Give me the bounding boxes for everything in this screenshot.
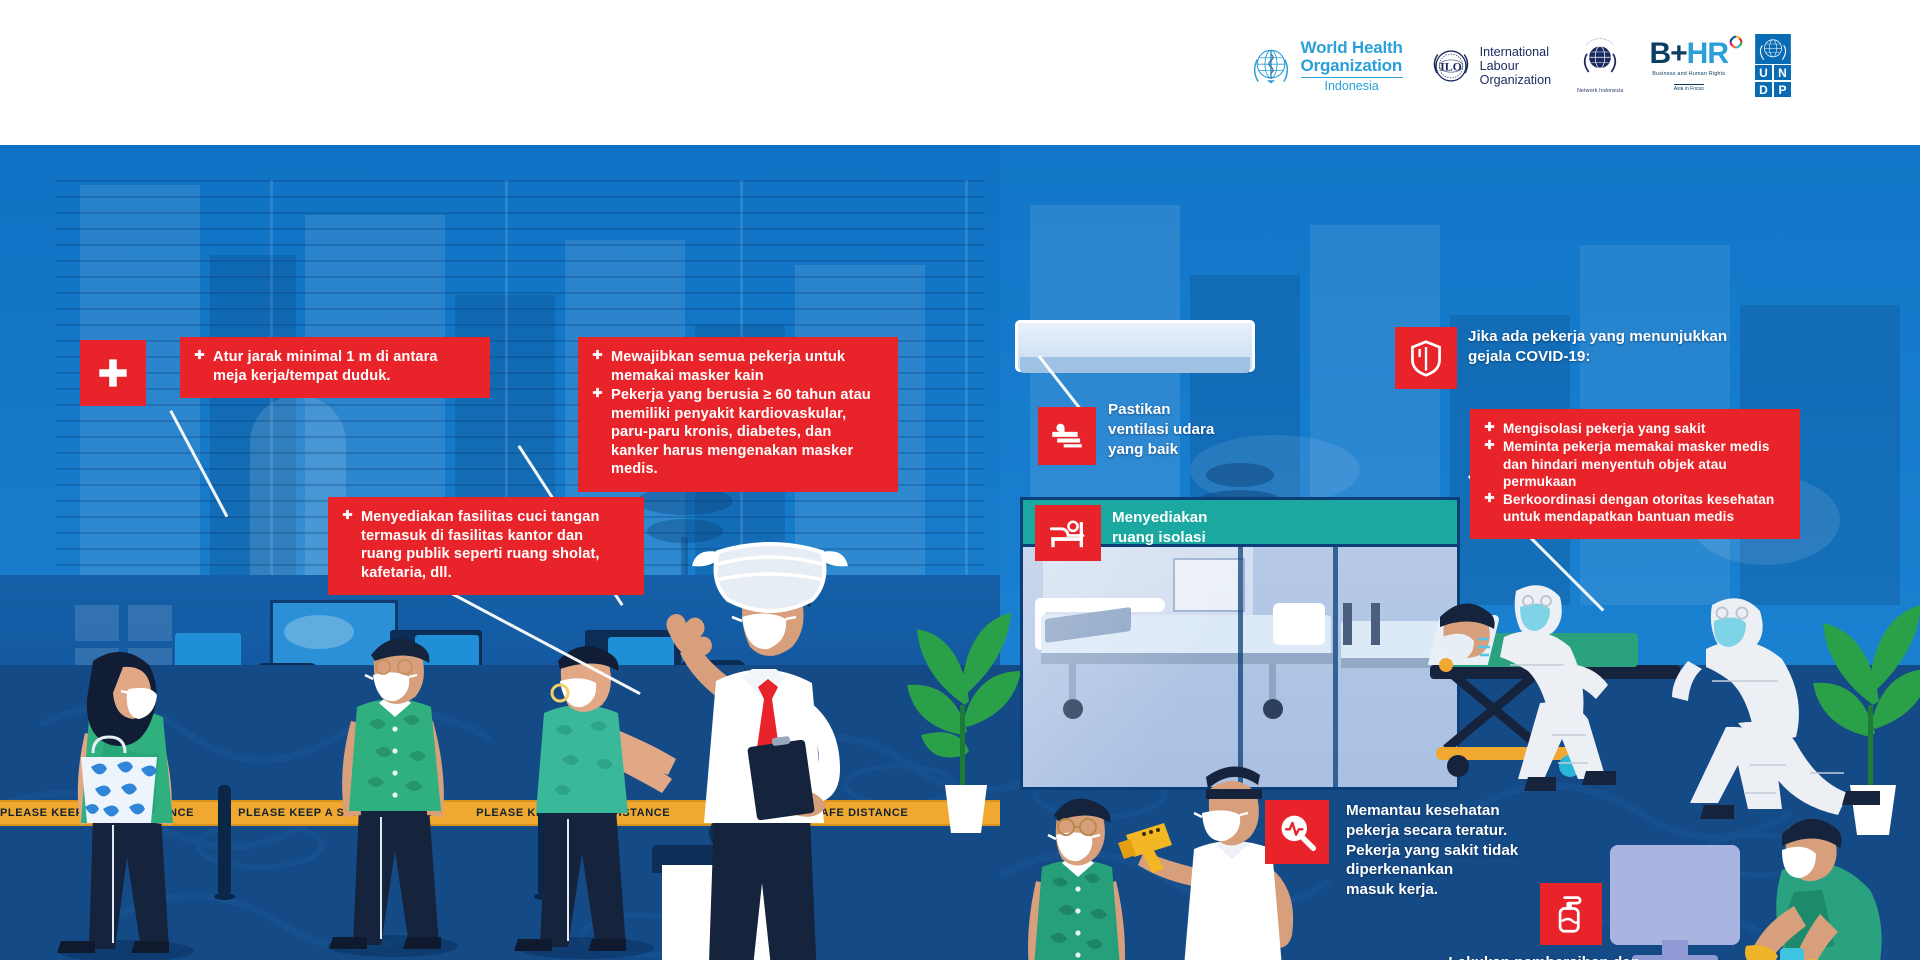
callout-handwash: Menyediakan fasilitas cuci tangan termas…	[328, 497, 644, 595]
person-manager	[660, 565, 920, 960]
bhr-b: B	[1649, 37, 1670, 70]
callout-masks: Mewajibkan semua pekerja untuk memakai m…	[578, 337, 898, 492]
callout-bullet: Mengisolasi pekerja yang sakit	[1484, 420, 1784, 437]
callout-text: Pekerja yang berusia ≥ 60 tahun atau mem…	[611, 387, 871, 477]
who-line2: Organization	[1301, 57, 1403, 75]
callout-disinfection-text: Lakukan pembersihan dan disinfeksi secar…	[1330, 953, 1640, 960]
callout-bullet: Meminta pekerja memakai masker medis dan…	[1484, 438, 1784, 490]
hospital-bed-icon-box	[1035, 505, 1101, 561]
who-line1: World Health	[1301, 39, 1403, 57]
sanitizer-bottle-icon-box	[1540, 883, 1602, 945]
infographic-root: World Health Organization Indonesia ILO …	[0, 0, 1920, 960]
sanitizer-bottle-icon	[1555, 894, 1587, 934]
bhr-plus: +	[1670, 37, 1687, 70]
undp-letter-p: P	[1773, 81, 1792, 98]
callout-text: Mewajibkan semua pekerja untuk memakai m…	[611, 349, 845, 384]
callout-bullet: Berkoordinasi dengan otoritas kesehatan …	[1484, 491, 1784, 526]
un-global-compact-logo: Network Indonesia	[1577, 39, 1623, 94]
logo-bar: World Health Organization Indonesia ILO …	[1248, 34, 1792, 98]
person-employee-hijab	[45, 645, 235, 955]
bhr-asia-logo: B+HR Business a	[1649, 37, 1728, 95]
wall-panel	[75, 605, 119, 641]
ilo-line2: Labour	[1480, 59, 1551, 73]
wall-panel	[128, 605, 172, 641]
header-bar: World Health Organization Indonesia ILO …	[0, 0, 1920, 145]
who-emblem-icon	[1248, 43, 1294, 89]
callout-isolation-room-text: Menyediakan ruang isolasi	[1112, 508, 1312, 548]
health-monitor-icon	[1277, 812, 1317, 852]
callout-symptoms-actions: Mengisolasi pekerja yang sakit Meminta p…	[1470, 409, 1800, 539]
surgical-mask-illustration	[690, 530, 850, 620]
callout-distance: Atur jarak minimal 1 m di antara meja ke…	[180, 337, 490, 398]
callout-symptoms-list: Mengisolasi pekerja yang sakit Meminta p…	[1484, 420, 1784, 526]
air-ventilation-icon-box	[1038, 407, 1096, 465]
ilo-logo: ILO International Labour Organization	[1429, 44, 1551, 88]
ilo-wordmark: International Labour Organization	[1480, 45, 1551, 87]
monitor-base	[1632, 955, 1718, 960]
undp-letter-d: D	[1754, 81, 1773, 98]
callout-ventilation-text: Pastikan ventilasi udara yang baik	[1108, 400, 1328, 459]
callout-masks-list: Mewajibkan semua pekerja untuk memakai m…	[592, 348, 882, 479]
bhr-sub1: Business and Human Rights	[1649, 71, 1728, 77]
callout-text: Menyediakan fasilitas cuci tangan termas…	[361, 509, 600, 581]
medical-cross-icon-box	[80, 340, 146, 406]
callout-bullet: Menyediakan fasilitas cuci tangan termas…	[342, 508, 628, 582]
ilo-line1: International	[1480, 45, 1551, 59]
plus-bullet-icon	[1484, 421, 1495, 432]
who-country: Indonesia	[1301, 77, 1403, 93]
person-ppe-worker-back	[1480, 585, 1670, 815]
un-emblem-icon	[1755, 34, 1791, 64]
bhr-hr: HR	[1687, 37, 1728, 70]
callout-distance-list: Atur jarak minimal 1 m di antara meja ke…	[194, 348, 474, 385]
air-ventilation-icon	[1049, 421, 1085, 451]
undp-letter-grid: U N D P	[1754, 64, 1792, 98]
sdg-wheel-icon	[1728, 34, 1744, 50]
bhr-sub2: Asia in Focus	[1674, 84, 1704, 92]
plus-bullet-icon	[194, 349, 205, 360]
plus-bullet-icon	[1484, 439, 1495, 450]
shield-icon	[1409, 339, 1443, 377]
global-compact-emblem-icon	[1578, 39, 1622, 79]
svg-text:ILO: ILO	[1440, 59, 1462, 73]
shield-icon-box	[1395, 327, 1457, 389]
global-compact-caption: Network Indonesia	[1577, 88, 1623, 94]
who-wordmark: World Health Organization Indonesia	[1301, 39, 1403, 93]
callout-text: Atur jarak minimal 1 m di antara meja ke…	[213, 349, 438, 384]
person-employee-batik	[315, 633, 505, 953]
callout-text: Mengisolasi pekerja yang sakit	[1503, 421, 1705, 436]
ilo-emblem-icon: ILO	[1429, 44, 1473, 88]
open-hand	[666, 614, 712, 657]
plus-bullet-icon	[592, 349, 603, 360]
callout-text: Berkoordinasi dengan otoritas kesehatan …	[1503, 492, 1774, 524]
callout-bullet: Atur jarak minimal 1 m di antara meja ke…	[194, 348, 474, 385]
plus-bullet-icon	[1484, 492, 1495, 503]
clipboard	[747, 739, 815, 820]
plus-bullet-icon	[342, 509, 353, 520]
air-conditioner-vent	[1020, 357, 1250, 373]
health-monitor-icon-box	[1265, 800, 1329, 864]
cleaning-cloth	[1780, 948, 1804, 960]
person-ppe-worker-front	[1660, 595, 1890, 835]
callout-bullet: Mewajibkan semua pekerja untuk memakai m…	[592, 348, 882, 385]
callout-handwash-list: Menyediakan fasilitas cuci tangan termas…	[342, 508, 628, 582]
bhr-wordmark: B+HR	[1649, 37, 1728, 71]
undp-letter-u: U	[1754, 64, 1773, 81]
callout-symptoms-header-text: Jika ada pekerja yang menunjukkan gejala…	[1468, 327, 1828, 367]
who-logo: World Health Organization Indonesia	[1248, 39, 1403, 93]
ilo-line3: Organization	[1480, 73, 1551, 87]
plus-bullet-icon	[592, 387, 603, 398]
medical-cross-icon	[95, 355, 131, 391]
callout-text: Meminta pekerja memakai masker medis dan…	[1503, 439, 1770, 489]
callout-bullet: Pekerja yang berusia ≥ 60 tahun atau mem…	[592, 386, 882, 479]
undp-letter-n: N	[1773, 64, 1792, 81]
undp-logo: U N D P	[1754, 34, 1792, 98]
illustration-stage: PLEASE KEEP A SAFE DISTANCE PLEASE KEEP …	[0, 145, 1920, 960]
hospital-bed-icon	[1048, 517, 1088, 549]
blind-divider	[965, 180, 968, 610]
